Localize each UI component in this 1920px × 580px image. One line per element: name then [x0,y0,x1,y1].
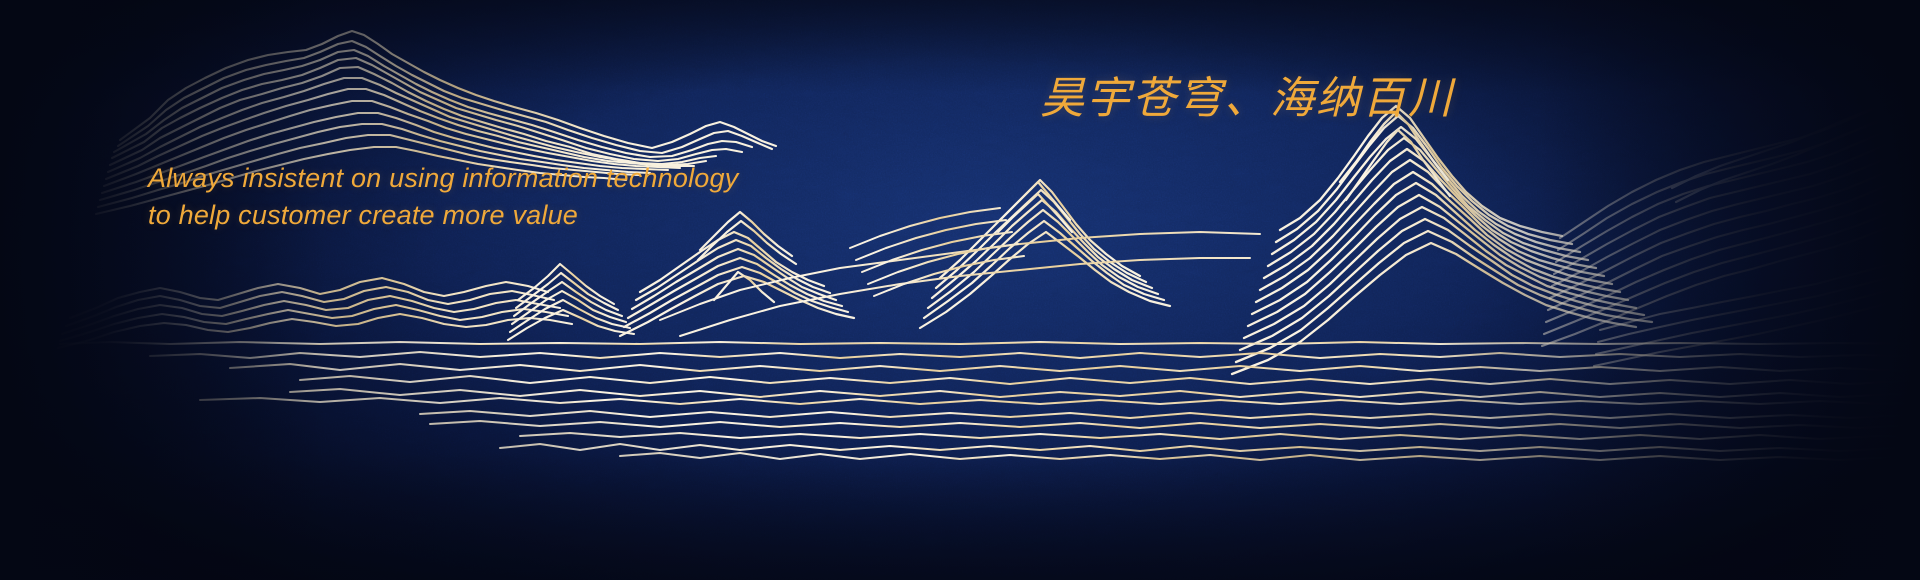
english-tagline: Always insistent on using information te… [148,160,738,234]
background-edge-darkening [0,0,1920,580]
tagline-line-1: Always insistent on using information te… [148,160,738,197]
tagline-line-2: to help customer create more value [148,197,738,234]
chinese-headline: 昊宇苍穹、海纳百川 [1040,62,1454,126]
hero-banner: 昊宇苍穹、海纳百川 Always insistent on using info… [0,0,1920,580]
